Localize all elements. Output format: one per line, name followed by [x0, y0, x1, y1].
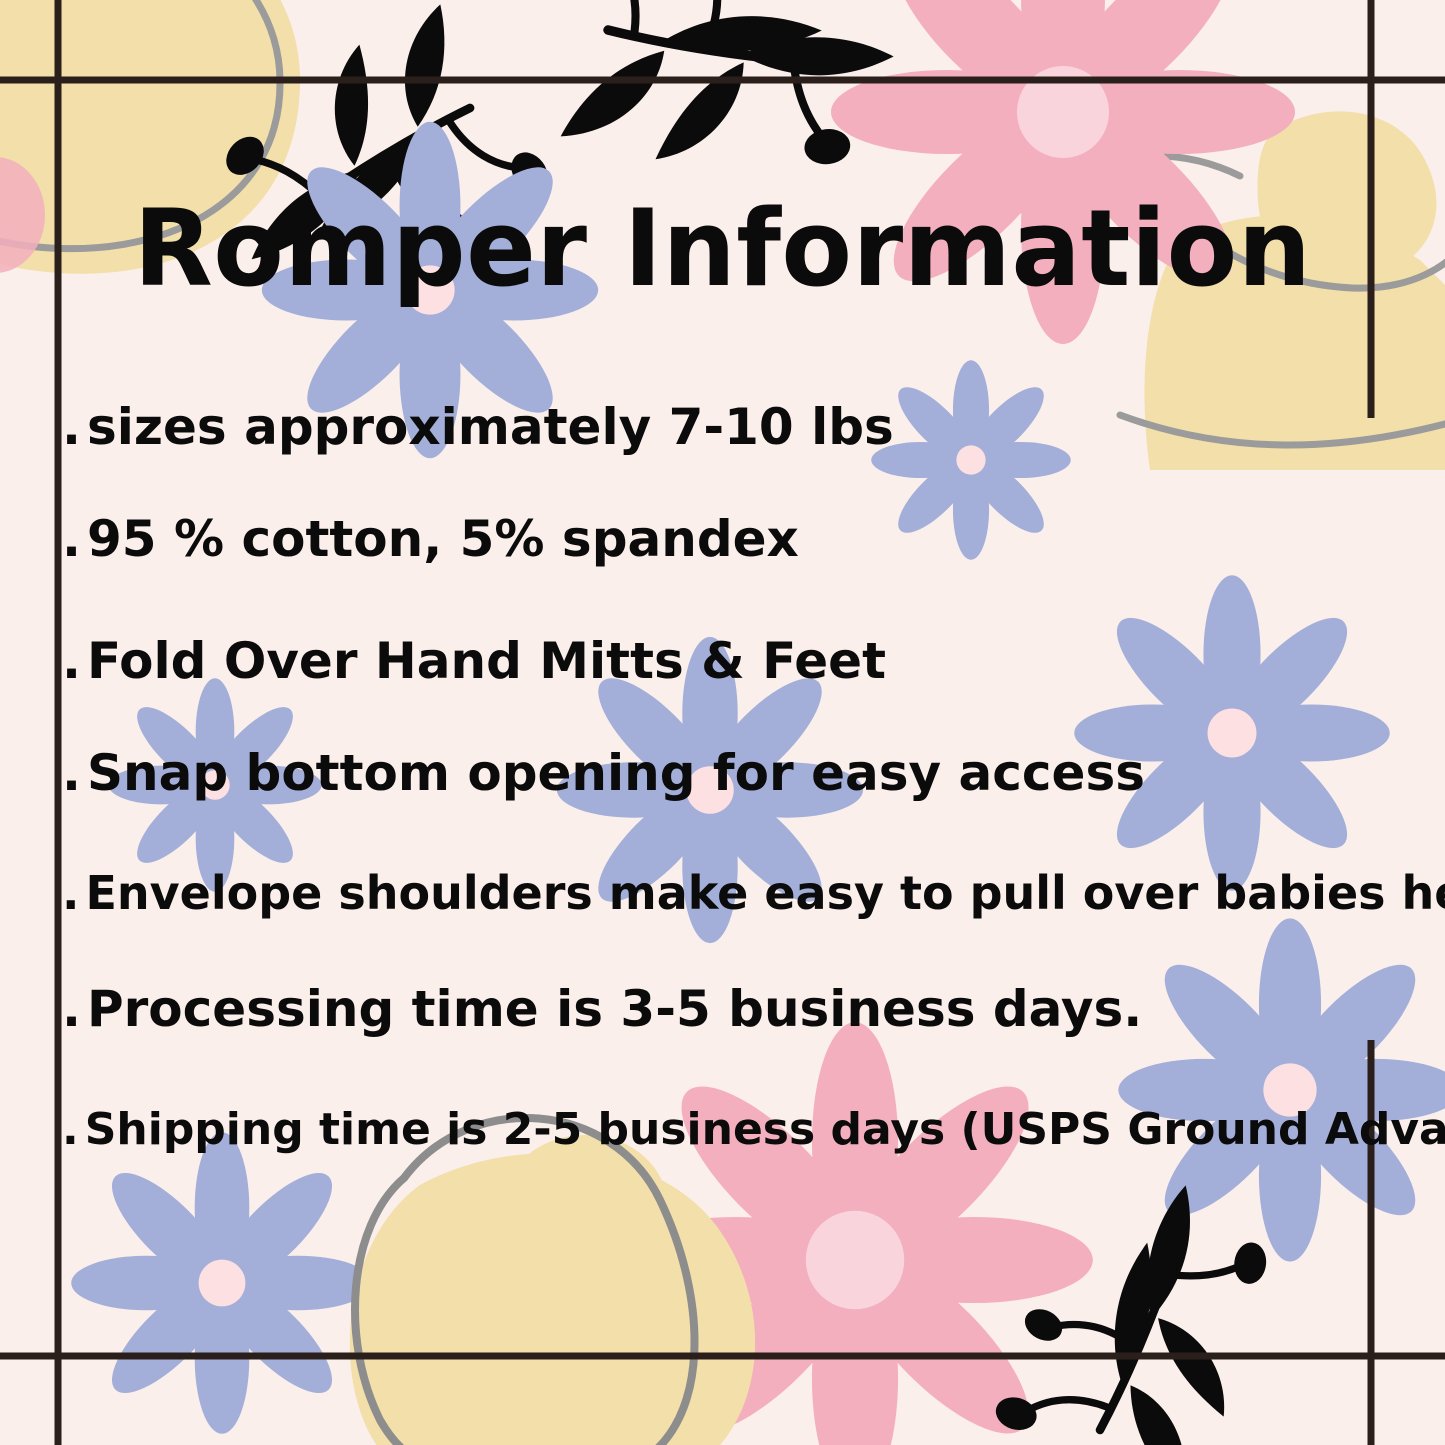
bullet-text: Processing time is 3-5 business days.	[87, 980, 1142, 1038]
list-item: . 95 % cotton, 5% spandex	[62, 510, 799, 568]
bullet-text: Envelope shoulders make easy to pull ove…	[85, 866, 1445, 920]
list-item: . Fold Over Hand Mitts & Feet	[62, 632, 886, 690]
list-item: . Envelope shoulders make easy to pull o…	[62, 866, 1445, 920]
bullet-text: Fold Over Hand Mitts & Feet	[87, 632, 886, 690]
bullet-marker: .	[62, 632, 81, 690]
bullet-marker: .	[62, 398, 81, 456]
bullet-text: 95 % cotton, 5% spandex	[87, 510, 799, 568]
bullet-marker: .	[62, 1104, 79, 1155]
bullet-marker: .	[62, 980, 81, 1038]
bullet-marker: .	[62, 510, 81, 568]
bullet-text: Shipping time is 2-5 business days (USPS…	[85, 1104, 1445, 1155]
bullet-marker: .	[62, 866, 79, 920]
bullet-text: Snap bottom opening for easy access	[87, 744, 1145, 802]
list-item: . sizes approximately 7-10 lbs	[62, 398, 894, 456]
list-item: . Processing time is 3-5 business days.	[62, 980, 1142, 1038]
list-item: . Snap bottom opening for easy access	[62, 744, 1145, 802]
bullet-marker: .	[62, 744, 81, 802]
list-item: . Shipping time is 2-5 business days (US…	[62, 1104, 1445, 1155]
romper-information-poster: Romper Information . sizes approximately…	[0, 0, 1445, 1445]
page-title: Romper Information	[22, 196, 1424, 302]
bullet-text: sizes approximately 7-10 lbs	[87, 398, 894, 456]
